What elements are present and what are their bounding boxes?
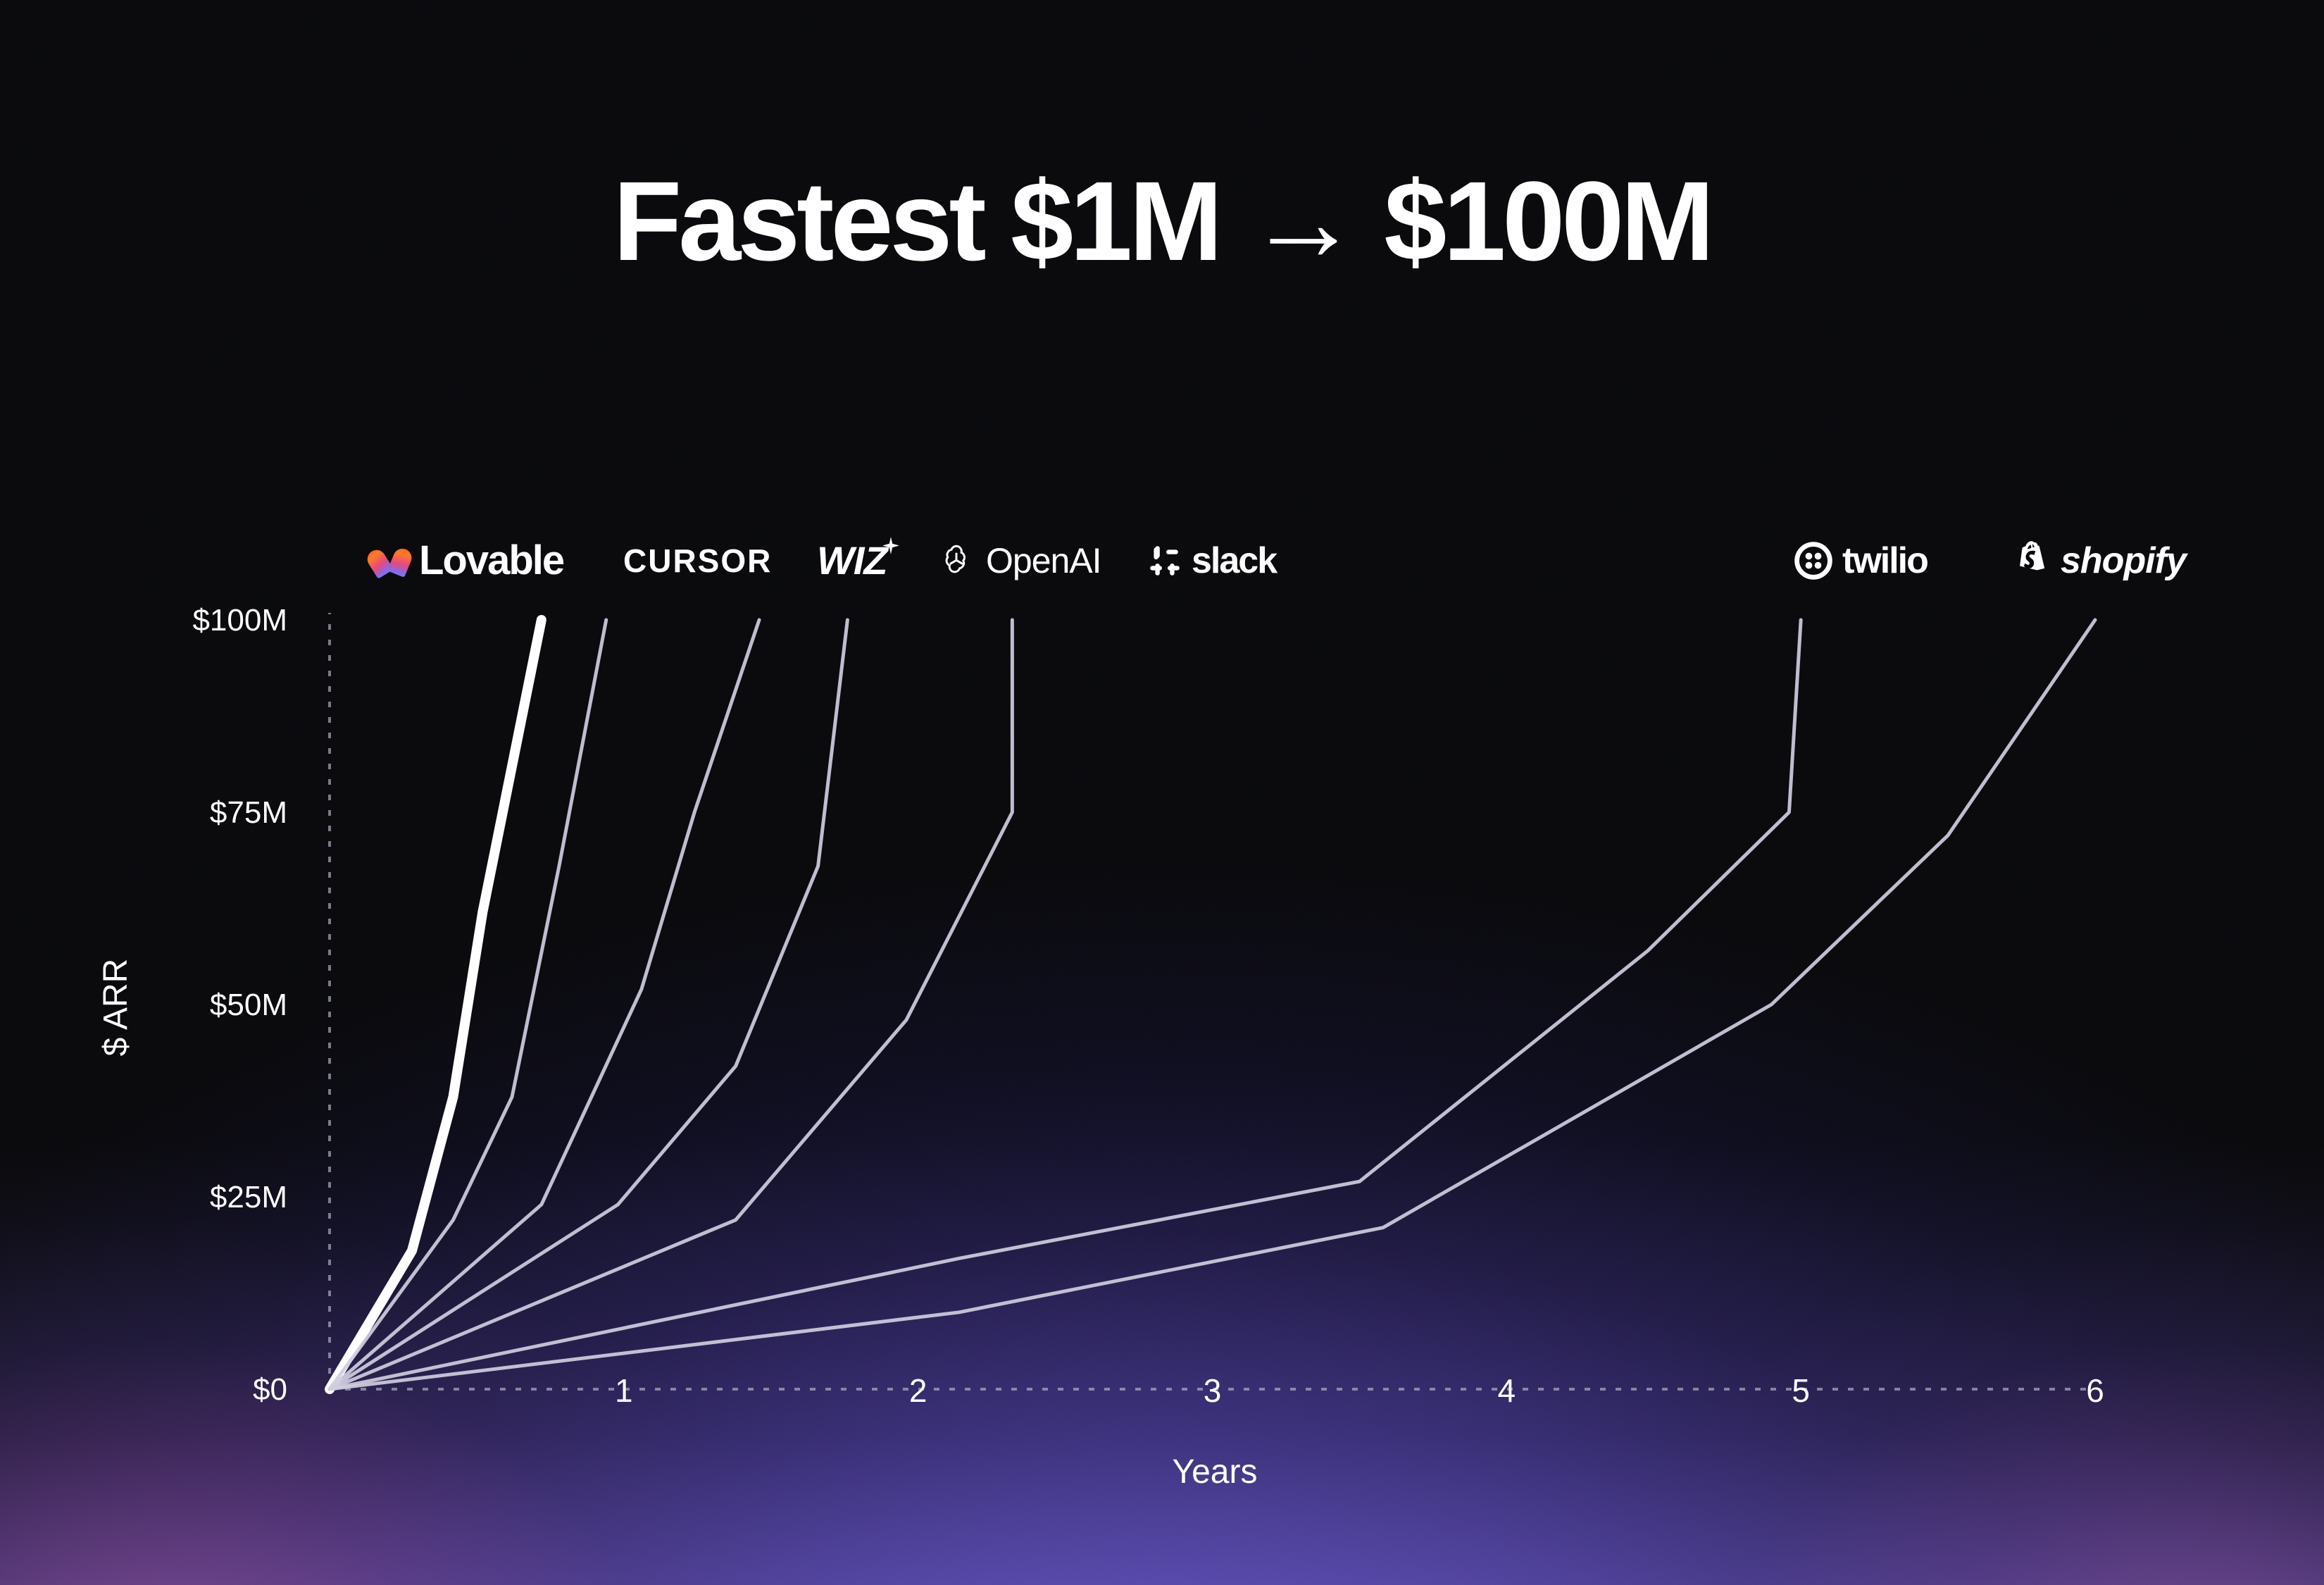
x-axis-title: Years — [1173, 1453, 1258, 1491]
poster-canvas: Fastest $1M → $100M Lovable CURSOR WIZ O… — [0, 0, 2324, 1585]
series-line-slack — [330, 620, 1012, 1389]
arr-growth-line-chart: $0$25M$50M$75M$100M 123456 $ ARR Years — [0, 0, 2324, 1585]
y-axis-title: $ ARR — [97, 959, 135, 1057]
y-axis-tick-labels: $0$25M$50M$75M$100M — [192, 603, 287, 1407]
y-tick-label: $25M — [210, 1180, 287, 1214]
gridlines — [330, 613, 2095, 1389]
x-tick-label: 5 — [1792, 1372, 1810, 1409]
series-lines — [330, 620, 2095, 1389]
x-tick-label: 2 — [909, 1372, 927, 1409]
series-line-twilio — [330, 620, 1801, 1389]
y-tick-label: $100M — [192, 603, 287, 638]
x-tick-label: 6 — [2086, 1372, 2104, 1409]
x-tick-label: 4 — [1498, 1372, 1516, 1409]
y-tick-label: $75M — [210, 795, 287, 830]
x-tick-label: 3 — [1204, 1372, 1222, 1409]
x-tick-label: 1 — [615, 1372, 633, 1409]
series-line-shopify — [330, 620, 2095, 1389]
y-tick-label: $50M — [210, 988, 287, 1022]
y-tick-label: $0 — [253, 1372, 287, 1407]
series-line-openai — [330, 620, 847, 1389]
